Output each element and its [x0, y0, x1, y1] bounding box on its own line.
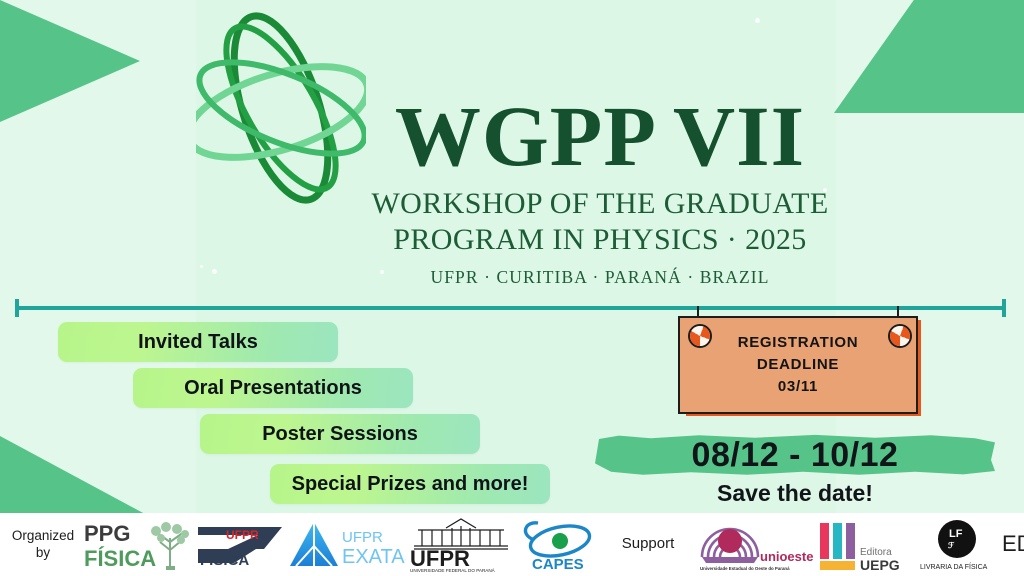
- svg-text:ED: ED: [1002, 531, 1024, 556]
- event-poster: WGPP VII WORKSHOP OF THE GRADUATE PROGRA…: [0, 0, 1024, 576]
- event-dates: 08/12 - 10/12: [595, 434, 995, 476]
- svg-text:unioeste: unioeste: [760, 549, 813, 564]
- session-pill-poster-sessions[interactable]: Poster Sessions: [200, 414, 480, 454]
- organized-by-label: Organized by: [4, 528, 82, 562]
- subtitle-block: WORKSHOP OF THE GRADUATE PROGRAM IN PHYS…: [300, 186, 900, 259]
- timeline-rule-cap-right: [1002, 299, 1006, 317]
- svg-text:ℱ: ℱ: [948, 541, 955, 550]
- session-pill-oral-presentations[interactable]: Oral Presentations: [133, 368, 413, 408]
- support-label: Support: [602, 535, 694, 554]
- organized-by-line-1: Organized: [4, 528, 82, 545]
- session-pill-special-prizes[interactable]: Special Prizes and more!: [270, 464, 550, 504]
- livraria-da-fisica-logo: LF ℱ LIVRARIA DA FÍSICA: [914, 517, 1000, 573]
- svg-text:Universidade Estadual do Oeste: Universidade Estadual do Oeste do Paraná: [700, 566, 790, 571]
- registration-line-2: DEADLINE: [757, 354, 839, 376]
- registration-deadline-date: 03/11: [778, 376, 818, 398]
- svg-text:PPG: PPG: [84, 521, 130, 546]
- registration-deadline-sign: REGISTRATION DEADLINE 03/11: [676, 306, 936, 418]
- save-the-date-text: Save the date!: [595, 480, 995, 507]
- edutfpr-logo: ED UT FPR: [1000, 517, 1024, 573]
- organized-by-line-2: by: [4, 545, 82, 562]
- subtitle-line-1: WORKSHOP OF THE GRADUATE: [300, 186, 900, 223]
- ufpr-exatas-logo: UFPR EXATAS: [286, 518, 406, 572]
- editora-uepg-logo: Editora UEPG: [814, 517, 914, 573]
- ufpr-logo: UFPR UNIVERSIDADE FEDERAL DO PARANÁ: [406, 516, 516, 574]
- ppg-fisica-logo: PPG FÍSICA: [82, 516, 194, 574]
- svg-text:UNIVERSIDADE FEDERAL DO PARANÁ: UNIVERSIDADE FEDERAL DO PARANÁ: [410, 567, 496, 573]
- poster-header: WGPP VII WORKSHOP OF THE GRADUATE PROGRA…: [0, 0, 1024, 300]
- svg-text:UEPG: UEPG: [860, 557, 900, 573]
- location-line: UFPR · CURITIBA · PARANÁ · BRAZIL: [300, 267, 900, 288]
- svg-text:FÍSICA: FÍSICA: [84, 546, 156, 571]
- svg-text:LIVRARIA DA FÍSICA: LIVRARIA DA FÍSICA: [920, 562, 988, 571]
- svg-text:CAPES: CAPES: [532, 556, 584, 573]
- registration-line-1: REGISTRATION: [738, 332, 859, 354]
- capes-logo: CAPES: [516, 517, 602, 573]
- unioeste-logo: unioeste Universidade Estadual do Oeste …: [694, 517, 814, 573]
- session-pill-invited-talks[interactable]: Invited Talks: [58, 322, 338, 362]
- page-title: WGPP VII: [300, 96, 900, 178]
- sign-card: REGISTRATION DEADLINE 03/11: [678, 316, 918, 414]
- svg-text:UFPR: UFPR: [342, 529, 383, 546]
- sponsor-logo-bar: Organized by PPG FÍSICA: [0, 513, 1024, 576]
- svg-text:UFPR: UFPR: [226, 528, 259, 542]
- ufpr-fisica-logo: UFPR FÍSICA: [194, 519, 286, 571]
- svg-text:EXATAS: EXATAS: [342, 546, 406, 568]
- svg-text:FÍSICA: FÍSICA: [200, 552, 249, 569]
- svg-text:LF: LF: [949, 528, 963, 540]
- sign-grommet-right-icon: [888, 324, 912, 348]
- title-block: WGPP VII WORKSHOP OF THE GRADUATE PROGRA…: [300, 96, 900, 288]
- sign-grommet-left-icon: [688, 324, 712, 348]
- subtitle-line-2: PROGRAM IN PHYSICS · 2025: [300, 222, 900, 259]
- timeline-rule-cap-left: [15, 299, 19, 317]
